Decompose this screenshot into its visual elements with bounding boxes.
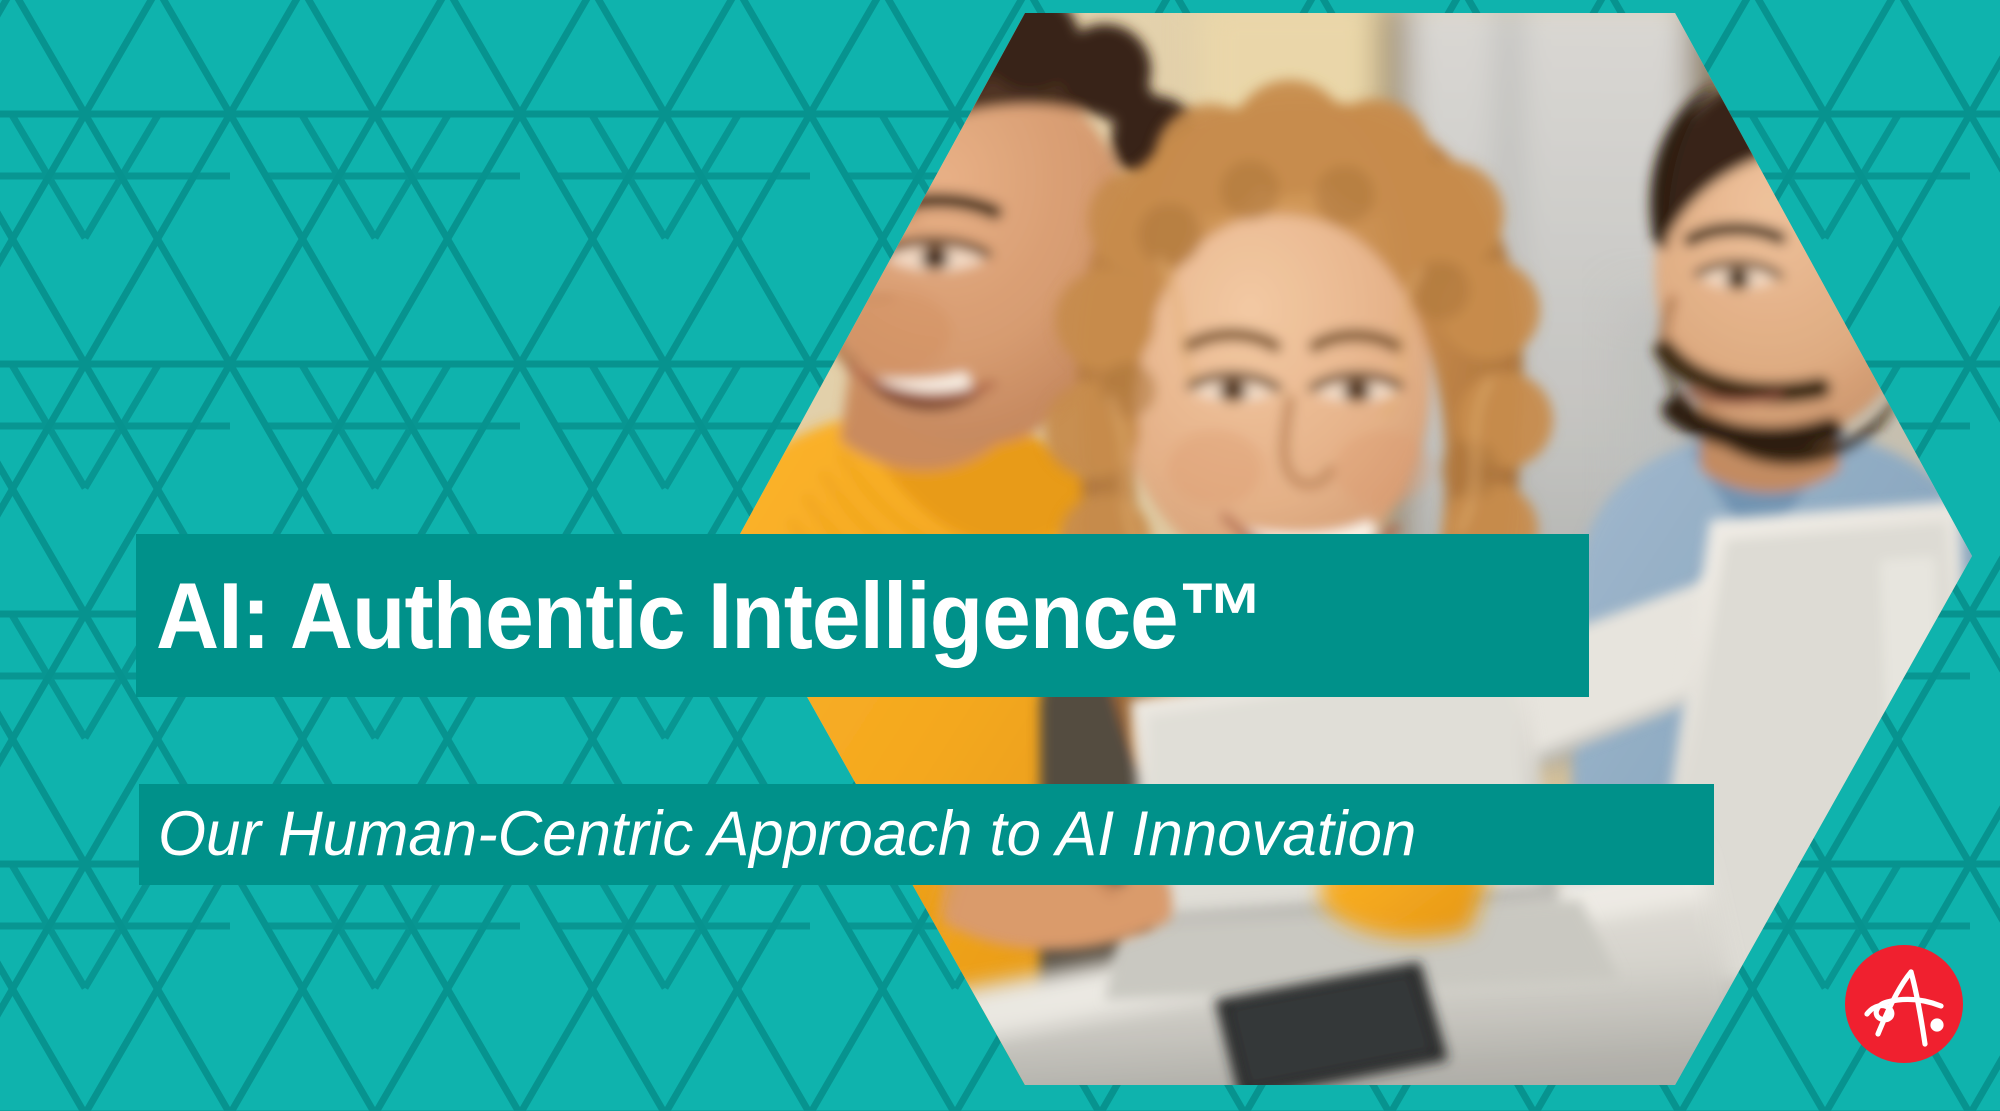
logo-circle bbox=[1845, 945, 1963, 1063]
page-title: AI: Authentic Intelligence™ bbox=[156, 569, 1264, 663]
brand-logo[interactable] bbox=[1845, 945, 1963, 1063]
subtitle-band: Our Human-Centric Approach to AI Innovat… bbox=[139, 784, 1714, 885]
logo-dot bbox=[1930, 1018, 1943, 1031]
banner-canvas: AI: Authentic Intelligence™ Our Human-Ce… bbox=[0, 0, 2000, 1111]
page-subtitle: Our Human-Centric Approach to AI Innovat… bbox=[158, 803, 1416, 866]
title-band: AI: Authentic Intelligence™ bbox=[136, 534, 1589, 697]
